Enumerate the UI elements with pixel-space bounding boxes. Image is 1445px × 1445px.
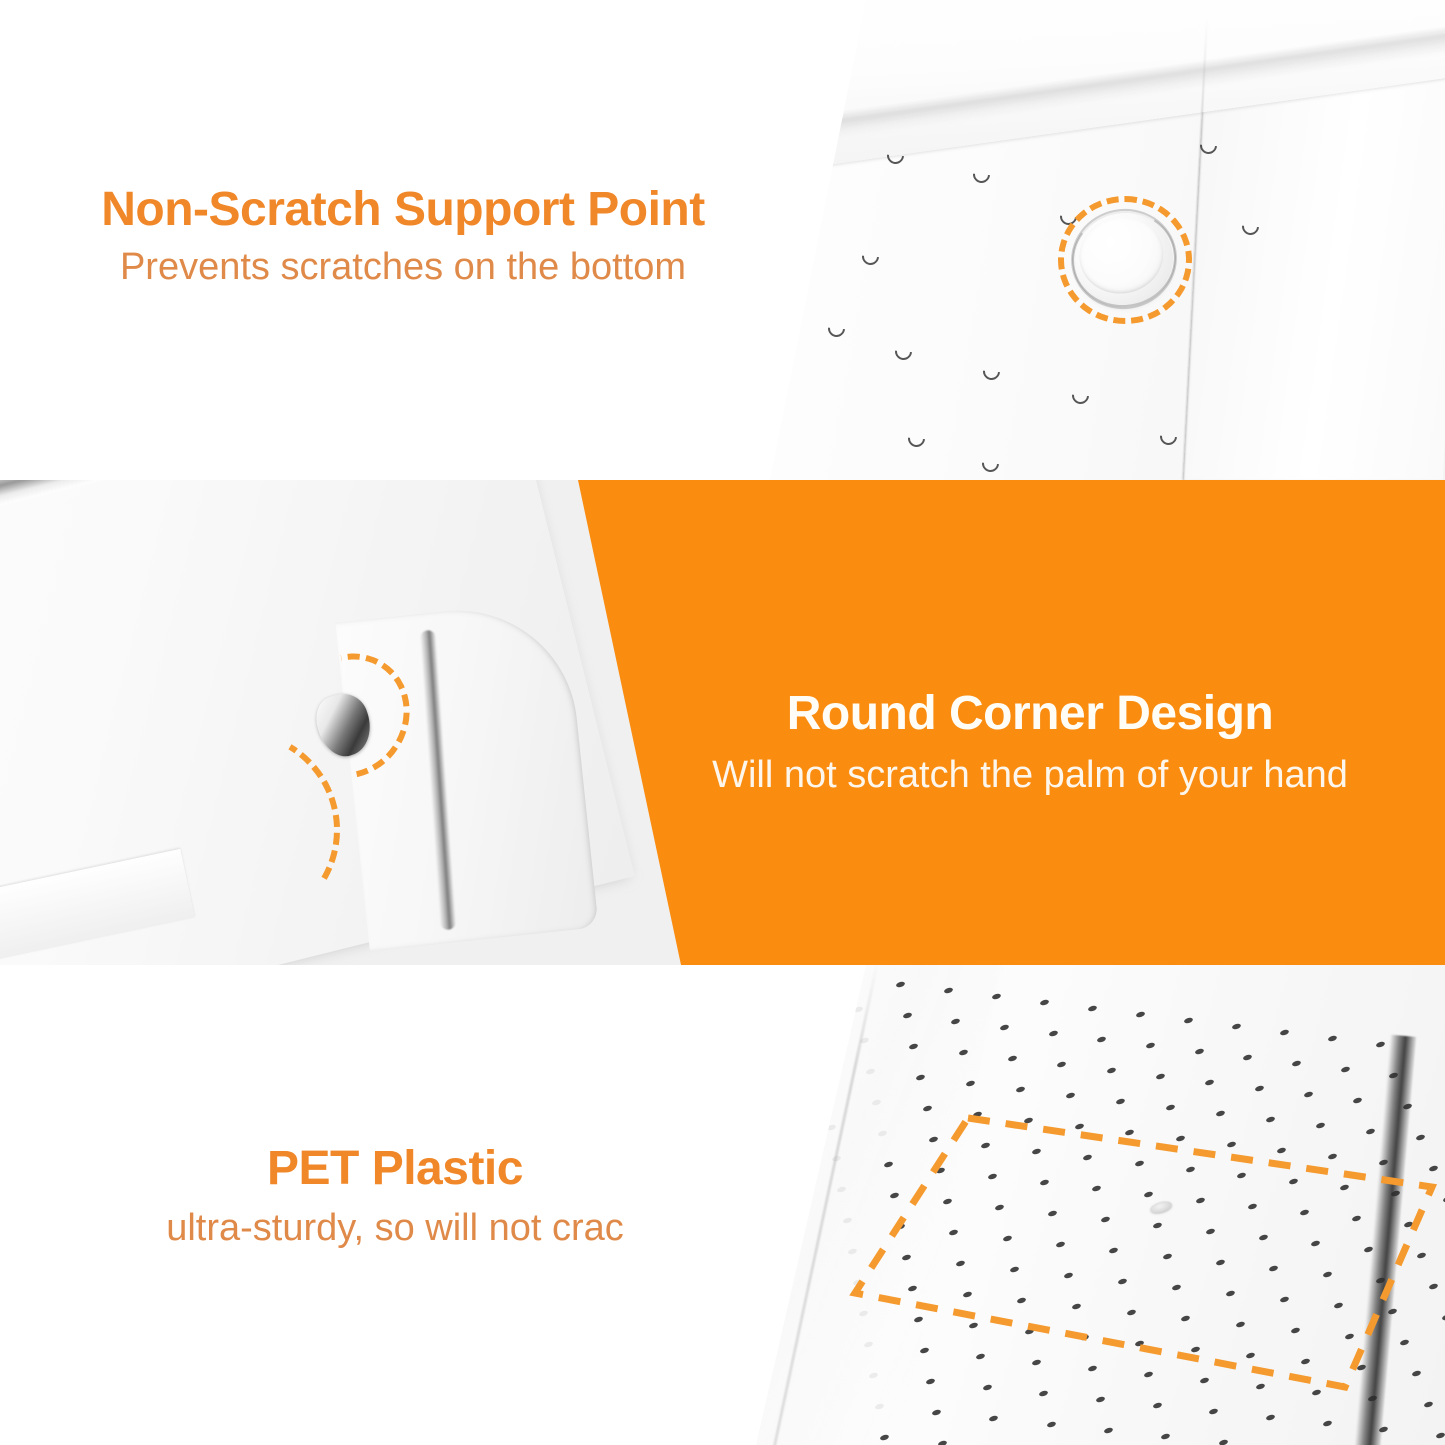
panel-3-text-block: PET Plastic ultra-sturdy, so will not cr…	[0, 1145, 790, 1247]
panel-2-headline: Round Corner Design	[620, 690, 1440, 738]
panel-1-text-block: Non-Scratch Support Point Prevents scrat…	[0, 186, 806, 286]
panel-1-headline: Non-Scratch Support Point	[0, 186, 806, 234]
tray-hole	[799, 969, 809, 977]
tray-hole	[815, 1062, 825, 1070]
panel-3-headline: PET Plastic	[0, 1145, 790, 1193]
panel-pet-plastic: PET Plastic ultra-sturdy, so will not cr…	[0, 965, 1445, 1445]
panel-2-subline: Will not scratch the palm of your hand	[620, 756, 1440, 794]
panel-round-corner-design: Round Corner Design Will not scratch the…	[0, 480, 1445, 965]
panel-1-subline: Prevents scratches on the bottom	[0, 248, 806, 286]
tray-hole	[805, 1000, 815, 1008]
tray-hole	[810, 1031, 820, 1039]
panel-non-scratch-support-point: Non-Scratch Support Point Prevents scrat…	[0, 0, 1445, 480]
panel-3-subline: ultra-sturdy, so will not crac	[0, 1209, 790, 1247]
tray-hole	[847, 975, 857, 983]
product-feature-infographic: Non-Scratch Support Point Prevents scrat…	[0, 0, 1445, 1445]
panel-2-text-block: Round Corner Design Will not scratch the…	[620, 690, 1440, 794]
tray-hole	[821, 1093, 831, 1101]
